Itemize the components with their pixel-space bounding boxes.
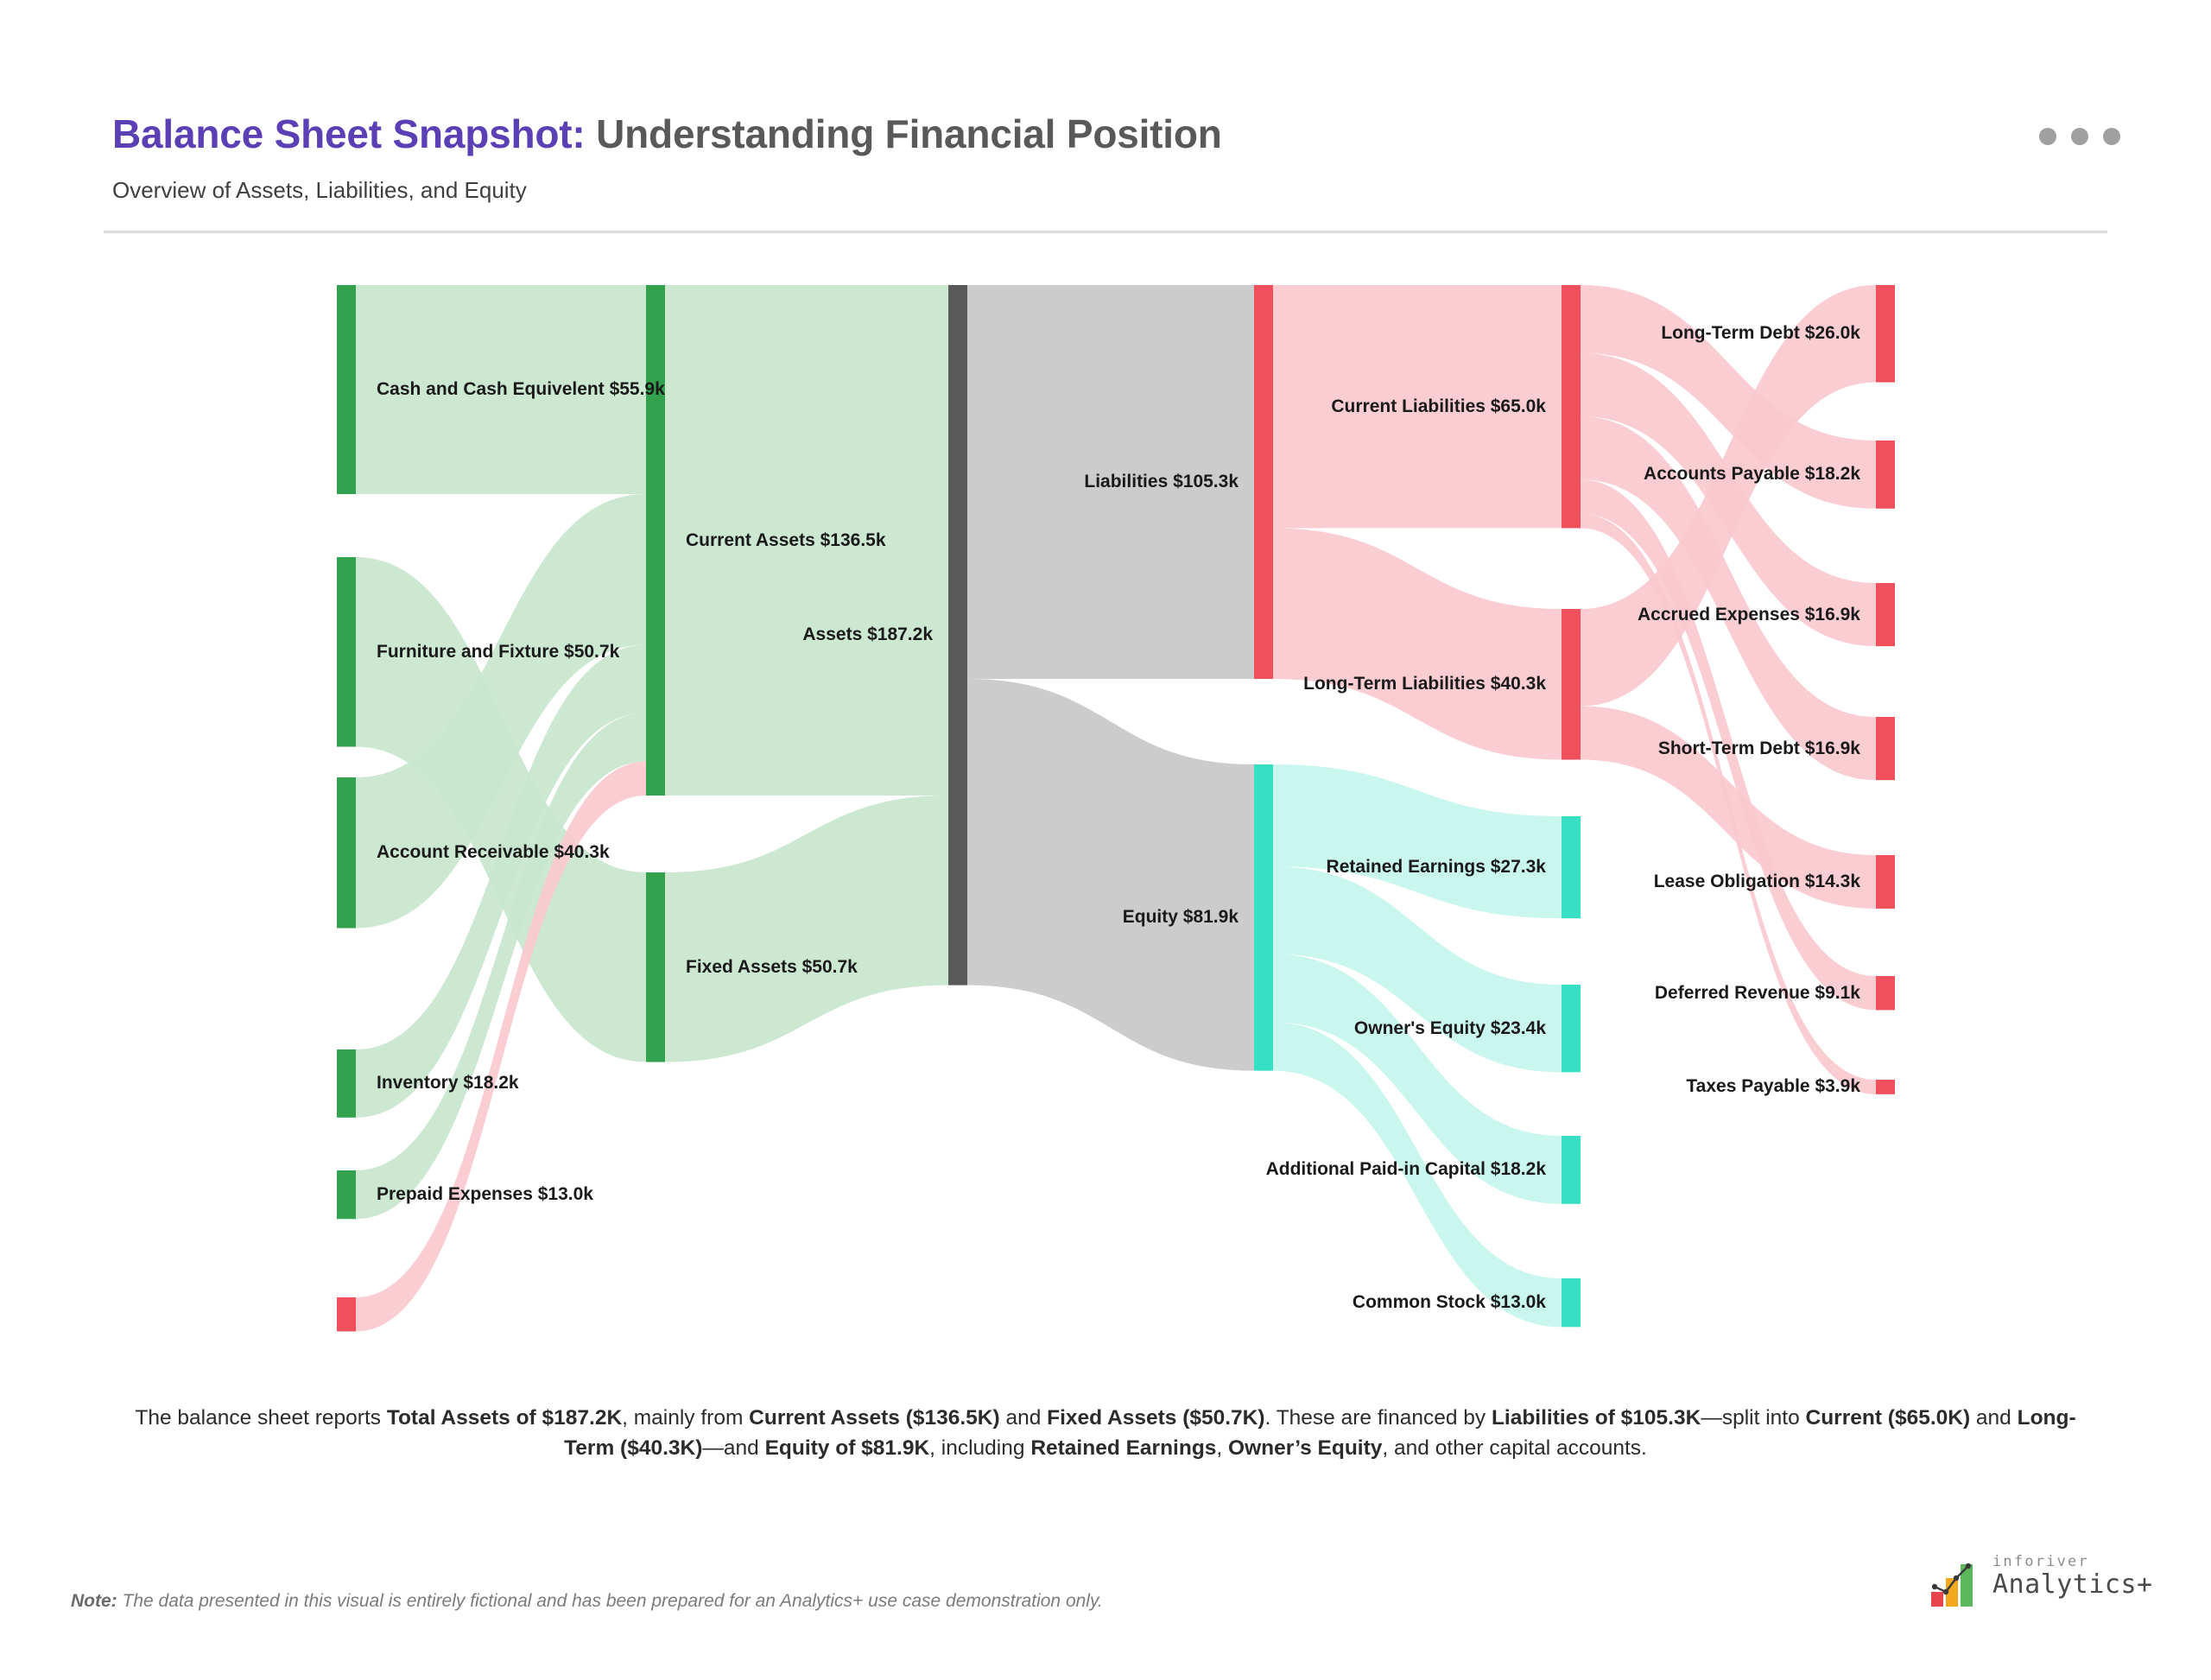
sankey-node[interactable]: [1876, 583, 1895, 646]
sankey-node-label: Short-Term Debt $16.9k: [0, 739, 1860, 758]
sankey-node-label: Lease Obligation $14.3k: [0, 872, 1860, 891]
logo-chart-icon: [1930, 1559, 1984, 1607]
logo-text: inforiver Analytics+: [1992, 1554, 2153, 1600]
footnote-text: The data presented in this visual is ent…: [117, 1591, 1103, 1611]
sankey-node[interactable]: [337, 285, 356, 494]
sankey-node[interactable]: [1876, 1080, 1895, 1094]
sankey-node[interactable]: [1562, 285, 1581, 528]
logo-product: Analytics+: [1992, 1570, 2153, 1601]
sankey-node[interactable]: [646, 285, 665, 796]
sankey-node-label: Owner's Equity $23.4k: [0, 1019, 1546, 1037]
sankey-node-label: Furniture and Fixture $50.7k: [377, 643, 619, 661]
sankey-node[interactable]: [1562, 816, 1581, 918]
sankey-node-label: Deferred Revenue $9.1k: [0, 984, 1860, 1002]
sankey-node[interactable]: [337, 557, 356, 747]
sankey-node[interactable]: [1562, 609, 1581, 759]
sankey-node-label: Assets $187.2k: [0, 625, 933, 643]
sankey-node-label: Additional Paid-in Capital $18.2k: [0, 1160, 1546, 1178]
sankey-node-label: Fixed Assets $50.7k: [686, 958, 858, 976]
sankey-node-label: Equity $81.9k: [0, 908, 1239, 926]
sankey-node-label: Current Liabilities $65.0k: [0, 397, 1546, 415]
sankey-node-label: Accounts Payable $18.2k: [0, 465, 1860, 483]
sankey-node-label: Long-Term Debt $26.0k: [0, 324, 1860, 342]
sankey-node[interactable]: [337, 777, 356, 928]
sankey-node-label: Long-Term Liabilities $40.3k: [0, 675, 1546, 693]
sankey-node[interactable]: [1876, 717, 1895, 780]
sankey-node[interactable]: [1876, 441, 1895, 509]
sankey-node-label: Common Stock $13.0k: [0, 1293, 1546, 1311]
footnote-label: Note:: [71, 1591, 117, 1611]
sankey-node[interactable]: [1876, 976, 1895, 1010]
sankey-node[interactable]: [1876, 855, 1895, 909]
sankey-node-label: Cash and Cash Equivelent $55.9k: [377, 380, 665, 398]
insight-text: The balance sheet reports Total Assets o…: [130, 1404, 2081, 1464]
sankey-node-label: Accrued Expenses $16.9k: [0, 605, 1860, 624]
sankey-node[interactable]: [1562, 1278, 1581, 1327]
sankey-svg: [0, 0, 2211, 1399]
sankey-node[interactable]: [1562, 1136, 1581, 1204]
sankey-node-label: Current Assets $136.5k: [686, 531, 886, 549]
sankey-infographic-page: Balance Sheet Snapshot: Understanding Fi…: [0, 0, 2211, 1680]
inforiver-analytics-logo: inforiver Analytics+: [1930, 1550, 2129, 1620]
sankey-chart: Cash and Cash Equivelent $55.9kFurniture…: [0, 0, 2211, 1399]
footnote: Note: The data presented in this visual …: [71, 1591, 1103, 1612]
sankey-node-label: Prepaid Expenses $13.0k: [377, 1185, 593, 1203]
sankey-node[interactable]: [1876, 285, 1895, 383]
sankey-node-label: Taxes Payable $3.9k: [0, 1077, 1860, 1095]
sankey-link[interactable]: [1273, 528, 1562, 759]
logo-brand: inforiver: [1992, 1554, 2153, 1570]
